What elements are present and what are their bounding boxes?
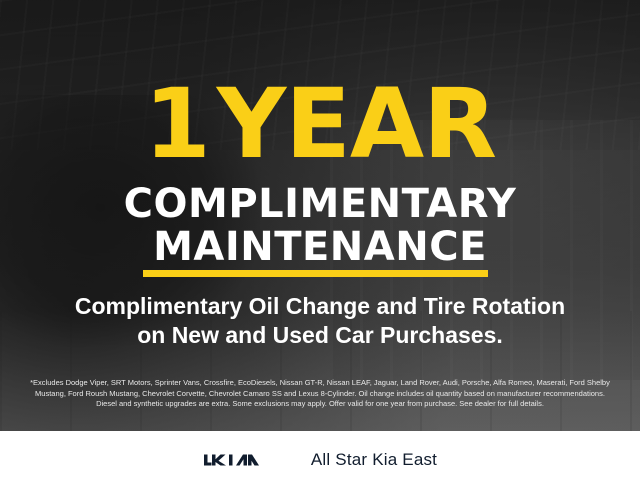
dealer-name: All Star Kia East [311, 450, 437, 470]
subheadline-line2: on New and Used Car Purchases. [0, 321, 640, 349]
headline-secondary-line1: COMPLIMENTARY [0, 183, 640, 225]
headline-primary-number: 1 [144, 68, 217, 180]
footer-bar: All Star Kia East [0, 431, 640, 488]
accent-divider-rule [143, 270, 488, 277]
subheadline-line1: Complimentary Oil Change and Tire Rotati… [0, 292, 640, 320]
disclaimer-line-2: Mustang, Ford Roush Mustang, Chevrolet C… [12, 389, 628, 400]
disclaimer-text: *Excludes Dodge Viper, SRT Motors, Sprin… [12, 378, 628, 410]
headline-stack: 1YEAR COMPLIMENTARY MAINTENANCE Complime… [0, 0, 640, 431]
service-promo-banner: 1YEAR COMPLIMENTARY MAINTENANCE Complime… [0, 0, 640, 488]
disclaimer-line-1: *Excludes Dodge Viper, SRT Motors, Sprin… [12, 378, 628, 389]
headline-primary: 1YEAR [0, 76, 640, 172]
headline-secondary-line2: MAINTENANCE [0, 226, 640, 268]
disclaimer-line-3: Diesel and synthetic upgrades are extra.… [12, 399, 628, 410]
kia-logo-icon [203, 449, 289, 471]
headline-primary-word: YEAR [217, 68, 496, 180]
